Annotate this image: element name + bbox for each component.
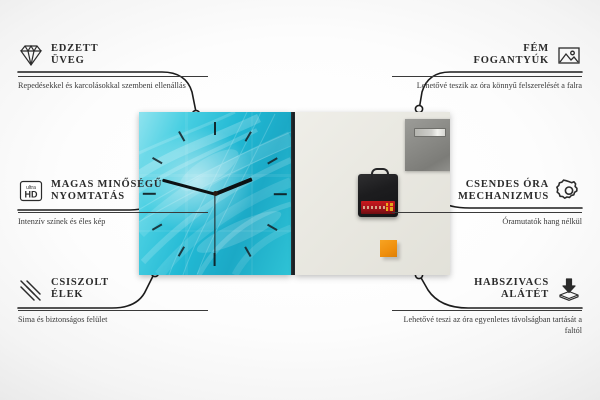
feature-title-line2: MECHANIZMUS <box>458 191 549 202</box>
hd-label: HD <box>25 190 38 200</box>
feature-title: HABSZIVACS ALÁTÉT <box>474 277 549 302</box>
feature-title-line1: CSISZOLT <box>51 277 109 288</box>
feature-title-line1: FÉM <box>523 43 549 54</box>
infographic-canvas: EDZETT ÜVEG Repedésekkel és karcolásokka… <box>0 0 600 400</box>
orange-foam-pad <box>380 240 397 257</box>
feature-title-line1: CSENDES ÓRA <box>466 179 549 190</box>
feature-divider <box>18 310 208 311</box>
polished-edges-icon <box>18 276 44 302</box>
feature-title-line1: HABSZIVACS <box>474 277 549 288</box>
feature-header: ultra HD MAGAS MINŐSÉGŰ NYOMTATÁS <box>18 174 208 208</box>
feature-title-line1: EDZETT <box>51 43 98 54</box>
metal-hanger-plate <box>405 119 450 171</box>
ultra-hd-icon: ultra HD <box>18 178 44 204</box>
feature-divider <box>18 212 208 213</box>
feature-silent-mechanism: CSENDES ÓRA MECHANIZMUS Óramutatók hang … <box>392 174 582 228</box>
feature-header: EDZETT ÜVEG <box>18 38 208 72</box>
feature-title-line2: ÉLEK <box>51 289 83 300</box>
feature-divider <box>18 76 208 77</box>
feature-title: EDZETT ÜVEG <box>51 43 98 68</box>
feature-tempered-glass: EDZETT ÜVEG Repedésekkel és karcolásokka… <box>18 38 208 92</box>
feature-foam-spacer: HABSZIVACS ALÁTÉT Lehetővé teszi az óra … <box>392 272 582 336</box>
feature-description: Intenzív színek és éles kép <box>18 217 208 228</box>
movement-hanger-loop <box>371 168 389 179</box>
feature-title-line2: ÜVEG <box>51 55 85 66</box>
feature-divider <box>392 212 582 213</box>
feature-polished-edges: CSISZOLT ÉLEK Sima és biztonságos felüle… <box>18 272 208 326</box>
feature-title: MAGAS MINŐSÉGŰ NYOMTATÁS <box>51 179 162 204</box>
feature-description: Sima és biztonságos felület <box>18 315 208 326</box>
feature-description: Lehetővé teszi az óra egyenletes távolsá… <box>392 315 582 336</box>
feature-title-line2: NYOMTATÁS <box>51 191 125 202</box>
battery-label <box>363 206 385 209</box>
feature-title-line2: FOGANTYÚK <box>474 55 549 66</box>
feature-header: HABSZIVACS ALÁTÉT <box>392 272 582 306</box>
feature-title: FÉM FOGANTYÚK <box>474 43 549 68</box>
clock-tick-12 <box>214 122 216 194</box>
wall-mount-icon <box>556 42 582 68</box>
feature-metal-hangers: FÉM FOGANTYÚK Lehetővé teszik az óra kön… <box>392 38 582 92</box>
feature-divider <box>392 310 582 311</box>
battery <box>361 201 395 214</box>
feature-header: FÉM FOGANTYÚK <box>392 38 582 72</box>
clock-center-cap <box>213 191 218 196</box>
gear-icon <box>556 178 582 204</box>
feature-header: CSENDES ÓRA MECHANIZMUS <box>392 174 582 208</box>
clock-tick-3 <box>215 193 287 195</box>
feature-hd-print: ultra HD MAGAS MINŐSÉGŰ NYOMTATÁS Intenz… <box>18 174 208 228</box>
foam-pad-icon <box>556 276 582 302</box>
feature-header: CSISZOLT ÉLEK <box>18 272 208 306</box>
feature-description: Óramutatók hang nélkül <box>392 217 582 228</box>
feature-title: CSENDES ÓRA MECHANIZMUS <box>458 179 549 204</box>
feature-divider <box>392 76 582 77</box>
diamond-icon <box>18 42 44 68</box>
hanger-slot <box>414 128 446 137</box>
feature-title-line2: ALÁTÉT <box>501 289 549 300</box>
feature-description: Repedésekkel és karcolásokkal szembeni e… <box>18 81 208 92</box>
feature-title-line1: MAGAS MINŐSÉGŰ <box>51 179 162 190</box>
feature-description: Lehetővé teszik az óra könnyű felszerelé… <box>392 81 582 92</box>
feature-title: CSISZOLT ÉLEK <box>51 277 109 302</box>
